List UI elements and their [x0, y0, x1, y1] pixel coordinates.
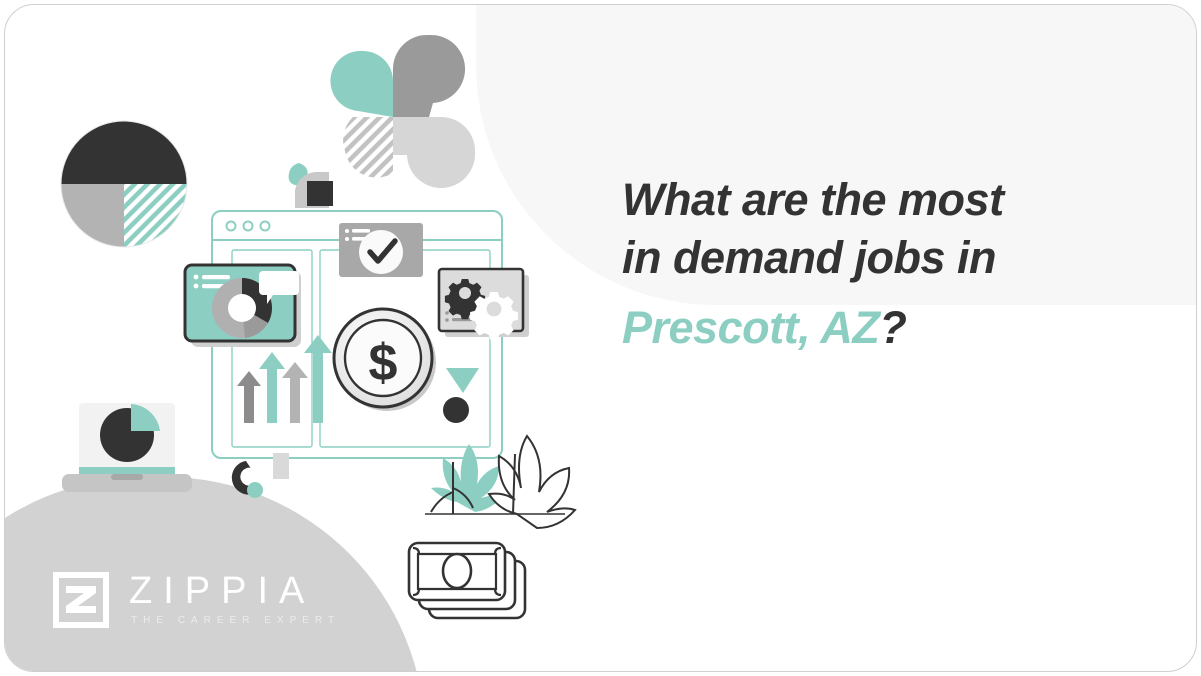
checkmark-card-icon: [339, 223, 423, 277]
question-mark: ?: [879, 302, 906, 353]
zippia-logo[interactable]: ZIPPIA THE CAREER EXPERT: [53, 571, 340, 629]
headline-line-2: in demand jobs in: [622, 229, 1142, 287]
triangle-shape-icon: [446, 368, 479, 393]
c-shape-icon: [227, 460, 263, 499]
headline-line-3: Prescott, AZ?: [622, 299, 1142, 357]
promo-card: $: [4, 4, 1197, 672]
banknotes-icon: [409, 543, 525, 618]
zippia-z-mark-icon: [53, 572, 109, 628]
page-title: What are the most in demand jobs in Pres…: [622, 171, 1142, 357]
gears-card-icon: [439, 269, 529, 340]
clover-flower-icon: [330, 35, 475, 188]
dollar-coin-icon: $: [334, 309, 436, 411]
headline-line-1: What are the most: [622, 171, 1142, 229]
frame-leg-icon: [273, 453, 289, 479]
laptop-pie-icon: [62, 403, 192, 492]
growth-arrows-icon: [237, 335, 332, 423]
pie-chart-icon: [61, 121, 187, 247]
location-text: Prescott, AZ: [622, 302, 879, 353]
dot-shape-icon: [443, 397, 469, 423]
logo-wordmark: ZIPPIA: [129, 571, 340, 611]
donut-chart-card-icon: [185, 265, 301, 347]
svg-text:$: $: [369, 334, 398, 392]
logo-tagline: THE CAREER EXPERT: [131, 613, 340, 629]
